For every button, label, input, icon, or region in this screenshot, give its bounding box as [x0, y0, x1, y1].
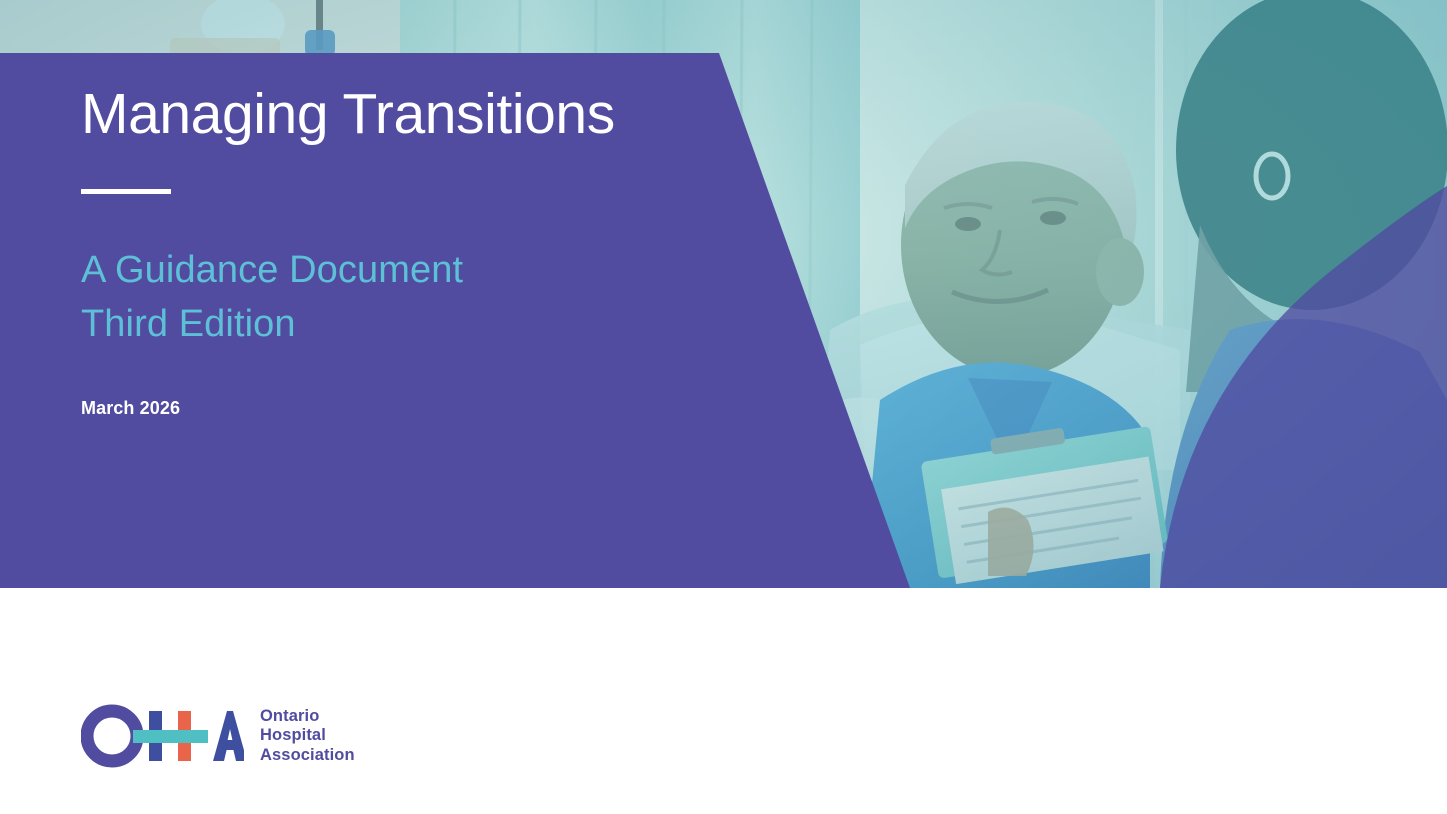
publication-date: March 2026	[81, 398, 701, 419]
oha-logo-mark-icon	[81, 704, 244, 768]
oha-logo: Ontario Hospital Association	[81, 704, 355, 768]
page-subtitle: A Guidance Document Third Edition	[81, 244, 701, 352]
page-title: Managing Transitions	[81, 85, 701, 144]
logo-letter-h-crossbar-icon	[133, 730, 208, 743]
document-cover-page: Managing Transitions A Guidance Document…	[0, 0, 1447, 814]
logo-word-ontario: Ontario	[260, 707, 355, 726]
title-divider-rule	[81, 189, 171, 194]
logo-word-hospital: Hospital	[260, 726, 355, 745]
subtitle-line-2: Third Edition	[81, 298, 701, 352]
oha-logo-wordmark: Ontario Hospital Association	[260, 707, 355, 764]
cover-footer: Ontario Hospital Association	[0, 588, 1447, 814]
subtitle-line-1: A Guidance Document	[81, 244, 701, 298]
logo-letter-o-icon	[87, 711, 137, 761]
cover-text-block: Managing Transitions A Guidance Document…	[81, 85, 701, 419]
logo-word-association: Association	[260, 746, 355, 765]
